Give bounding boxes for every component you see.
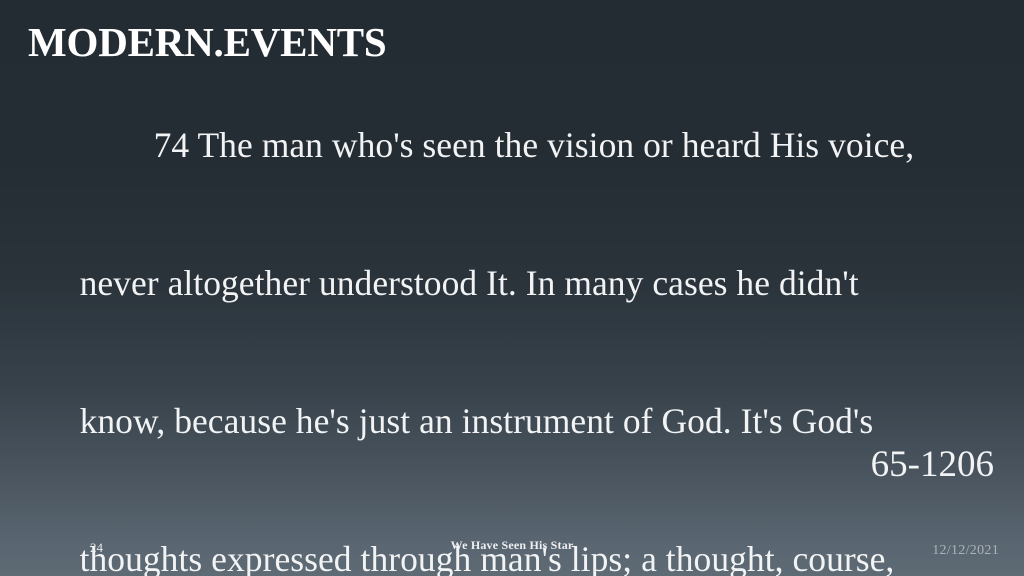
body-line: know, because he's just an instrument of… bbox=[26, 352, 998, 490]
body-text-segment: never altogether understood It. In many … bbox=[80, 263, 859, 303]
slide-title: MODERN.EVENTS bbox=[28, 22, 988, 63]
slide-body-text: 74 The man who's seen the vision or hear… bbox=[26, 76, 998, 576]
body-line: thoughts expressed through man's lips; a… bbox=[26, 490, 998, 576]
body-line: never altogether understood It. In many … bbox=[26, 214, 998, 352]
body-text-segment: 74 The man who's seen the vision or hear… bbox=[154, 125, 915, 165]
footer-sermon-title: We Have Seen His Star bbox=[0, 539, 1024, 551]
scripture-reference: 65-1206 bbox=[871, 446, 994, 483]
body-text-segment: know, because he's just an instrument of… bbox=[80, 401, 874, 441]
footer-date: 12/12/2021 bbox=[932, 544, 999, 558]
body-line: 74 The man who's seen the vision or hear… bbox=[26, 76, 998, 214]
presentation-slide: MODERN.EVENTS 74 The man who's seen the … bbox=[0, 0, 1024, 576]
